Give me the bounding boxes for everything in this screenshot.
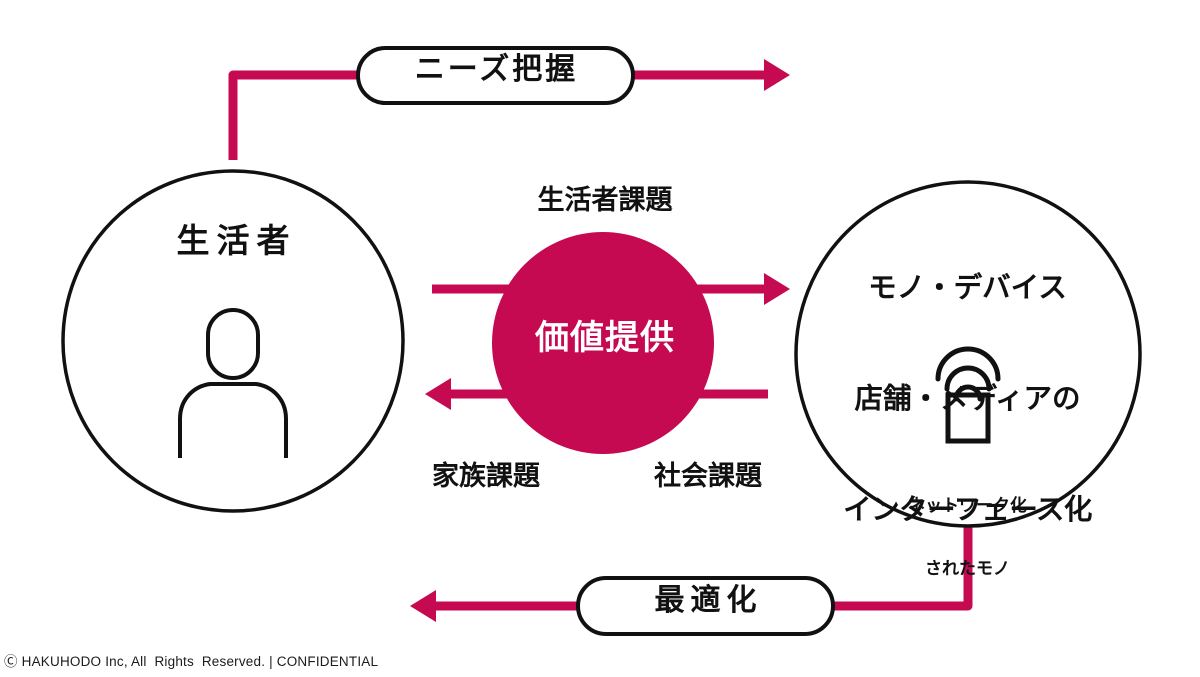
- node-value-label: 価値提供: [495, 318, 715, 358]
- flow-bottom-pill-label[interactable]: 最適化: [583, 583, 828, 618]
- diagram-canvas: 生活者 価値提供 モノ・デバイス 店舗・メディアの インターフェース化 ネットワ…: [0, 0, 1200, 677]
- node-things-caption-line2: されたモノ: [820, 558, 1115, 579]
- node-consumer-label: 生活者: [63, 222, 403, 261]
- flow-top-elbow: [233, 75, 372, 160]
- node-things-caption: ネットワーク化 されたモノ: [820, 452, 1115, 622]
- node-things-label-line1: モノ・デバイス: [795, 270, 1140, 307]
- node-things-caption-line1: ネットワーク化: [820, 495, 1115, 516]
- flow-bottom-arrowhead: [410, 590, 436, 622]
- node-things-label-line2: 店舗・メディアの: [795, 381, 1140, 418]
- label-consumer-issue: 生活者課題: [455, 185, 755, 217]
- flow-top-pill-label[interactable]: ニーズ把握: [360, 52, 630, 87]
- arrow-left-arrowhead: [425, 378, 451, 410]
- label-family-issue: 家族課題: [356, 461, 616, 493]
- copyright-footer: Ⓒ HAKUHODO Inc, All Rights Reserved. | C…: [4, 650, 378, 670]
- arrow-right-arrowhead: [764, 273, 790, 305]
- label-social-issue: 社会課題: [578, 461, 838, 493]
- flow-top-arrowhead: [764, 59, 790, 91]
